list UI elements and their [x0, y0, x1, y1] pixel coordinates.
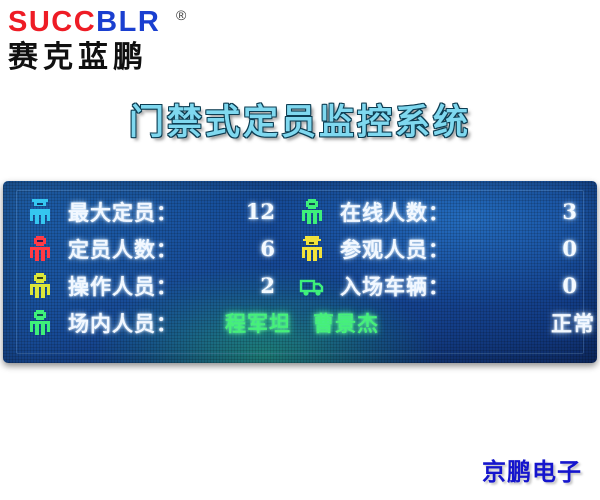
led-field-people-on-site: 场内人员： 程军坦 曹景杰 正常	[27, 304, 597, 341]
person-yellow-icon	[27, 271, 53, 301]
led-field-max-capacity: 最大定员： 12	[27, 193, 295, 230]
person-yellow-hat-icon	[299, 234, 325, 264]
led-label: 场内人员：	[68, 308, 178, 338]
brand-chinese-name: 赛克蓝鹏	[8, 40, 218, 76]
led-field-assigned-count: 定员人数： 6	[27, 230, 295, 267]
registered-trademark-icon: ®	[176, 8, 188, 22]
led-value: 0	[562, 273, 577, 298]
brand-wordmark-part2: BLR	[96, 6, 160, 38]
led-field-online-count: 在线人数： 3	[299, 193, 589, 230]
led-rows: 最大定员： 12 在线人数	[3, 193, 597, 343]
led-row: 定员人数： 6 参观人员：	[3, 230, 597, 267]
led-field-vehicle-count: 入场车辆： 0	[299, 267, 589, 304]
led-value: 2	[260, 273, 275, 298]
footer-brand: 京鹏电子	[482, 452, 582, 487]
led-value: 12	[246, 199, 275, 224]
led-field-operator-count: 操作人员： 2	[27, 267, 295, 304]
led-label: 入场车辆：	[340, 271, 450, 301]
led-label: 最大定员：	[68, 197, 178, 227]
brand-wordmark: SUCCBLR ®	[8, 6, 218, 39]
led-value: 6	[260, 236, 275, 261]
led-label: 操作人员：	[68, 271, 178, 301]
led-display-panel: 最大定员： 12 在线人数	[3, 181, 597, 363]
led-label: 定员人数：	[68, 234, 178, 264]
truck-green-icon	[299, 271, 325, 301]
led-label: 在线人数：	[340, 197, 450, 227]
led-row: 场内人员： 程军坦 曹景杰 正常	[3, 304, 597, 343]
person-green-icon	[299, 197, 325, 227]
people-on-site-names: 程军坦 曹景杰	[225, 308, 379, 338]
status-badge: 正常	[551, 308, 595, 338]
led-value: 0	[562, 236, 577, 261]
led-row: 最大定员： 12 在线人数	[3, 193, 597, 230]
led-field-visitor-count: 参观人员： 0	[299, 230, 589, 267]
brand-wordmark-part1: SUCC	[8, 6, 96, 38]
led-value: 3	[562, 199, 577, 224]
brand-logo: SUCCBLR ® 赛克蓝鹏	[8, 6, 218, 78]
person-red-icon	[27, 234, 53, 264]
person-cyan-hat-icon	[27, 197, 53, 227]
person-green-icon	[27, 308, 53, 338]
led-row: 操作人员： 2 入场车辆： 0	[3, 267, 597, 304]
led-label: 参观人员：	[340, 234, 450, 264]
page-title: 门禁式定员监控系统	[0, 94, 600, 145]
